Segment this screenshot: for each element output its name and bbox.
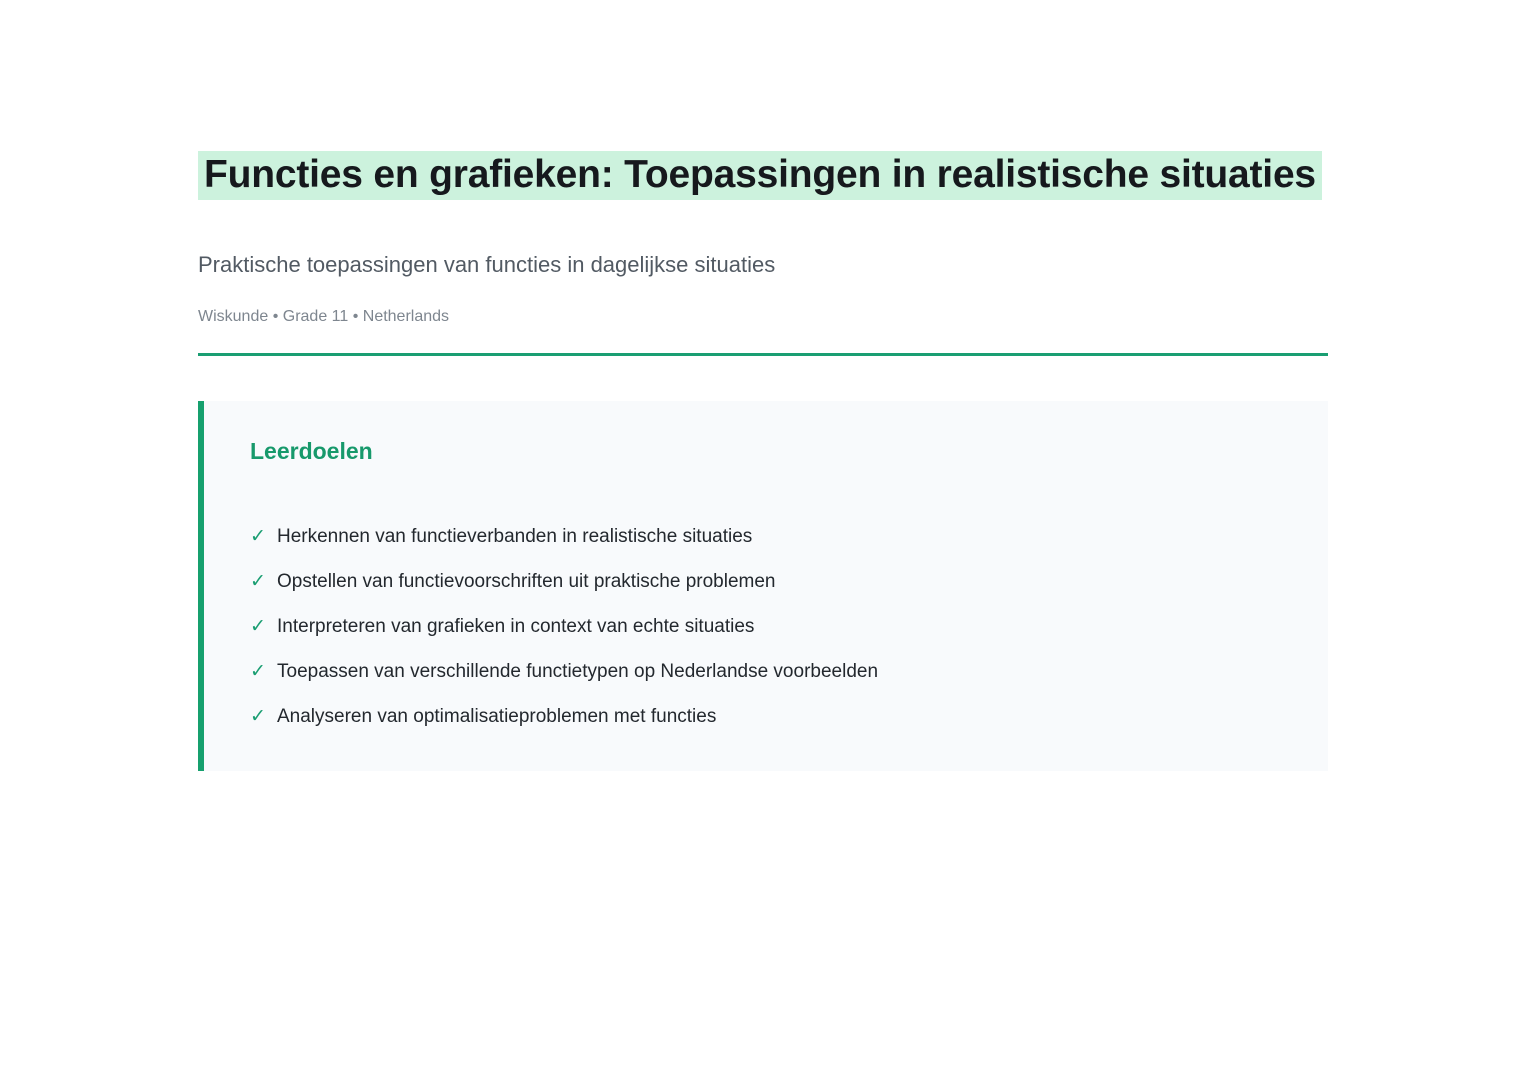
check-icon: ✓ bbox=[250, 570, 277, 594]
page-title: Functies en grafieken: Toepassingen in r… bbox=[198, 140, 1328, 210]
header-divider bbox=[198, 353, 1328, 356]
list-item: ✓ Analyseren van optimalisatieproblemen … bbox=[250, 705, 1288, 729]
page-title-highlight: Functies en grafieken: Toepassingen in r… bbox=[198, 151, 1322, 200]
check-icon: ✓ bbox=[250, 525, 277, 549]
page-subtitle: Praktische toepassingen van functies in … bbox=[198, 210, 1328, 280]
document-metadata: Wiskunde • Grade 11 • Netherlands bbox=[198, 280, 1328, 328]
list-item: ✓ Opstellen van functievoorschriften uit… bbox=[250, 570, 1288, 615]
check-icon: ✓ bbox=[250, 615, 277, 639]
learning-objectives-heading: Leerdoelen bbox=[250, 435, 1288, 467]
list-item-label: Interpreteren van grafieken in context v… bbox=[277, 615, 754, 639]
list-item: ✓ Toepassen van verschillende functietyp… bbox=[250, 660, 1288, 705]
list-item-label: Toepassen van verschillende functietypen… bbox=[277, 660, 878, 684]
lesson-document-page: Functies en grafieken: Toepassingen in r… bbox=[0, 0, 1527, 1080]
list-item: ✓ Interpreteren van grafieken in context… bbox=[250, 615, 1288, 660]
check-icon: ✓ bbox=[250, 660, 277, 684]
learning-objectives-card: Leerdoelen ✓ Herkennen van functieverban… bbox=[198, 401, 1328, 771]
check-icon: ✓ bbox=[250, 705, 277, 729]
list-item-label: Herkennen van functieverbanden in realis… bbox=[277, 525, 752, 549]
list-item-label: Opstellen van functievoorschriften uit p… bbox=[277, 570, 775, 594]
learning-objectives-list: ✓ Herkennen van functieverbanden in real… bbox=[250, 467, 1288, 729]
document-content: Functies en grafieken: Toepassingen in r… bbox=[198, 140, 1328, 771]
list-item-label: Analyseren van optimalisatieproblemen me… bbox=[277, 705, 716, 729]
list-item: ✓ Herkennen van functieverbanden in real… bbox=[250, 525, 1288, 570]
